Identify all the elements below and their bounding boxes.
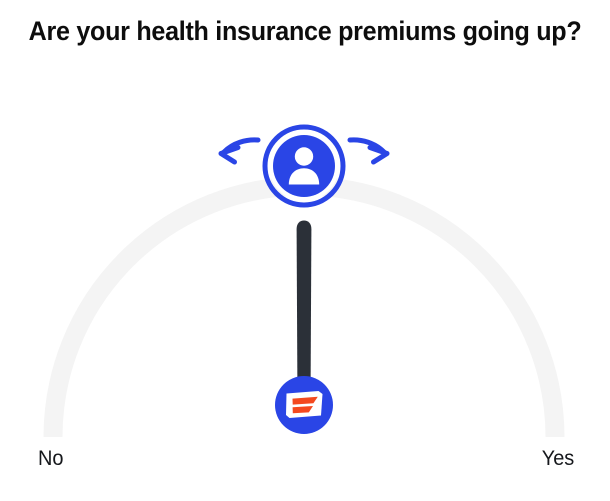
gauge-knob[interactable]	[265, 127, 343, 205]
flag-logo-icon	[286, 391, 323, 418]
gauge-widget[interactable]: No Yes	[0, 0, 610, 501]
gauge-min-label: No	[38, 447, 64, 471]
gauge-svg	[0, 0, 610, 501]
knob-disc	[273, 135, 335, 197]
curved-arrow-right-icon	[350, 140, 387, 162]
pivot-logo	[275, 376, 333, 434]
curved-arrow-left-icon	[221, 140, 258, 162]
gauge-max-label: Yes	[541, 447, 574, 471]
gauge-needle[interactable]	[297, 221, 312, 388]
